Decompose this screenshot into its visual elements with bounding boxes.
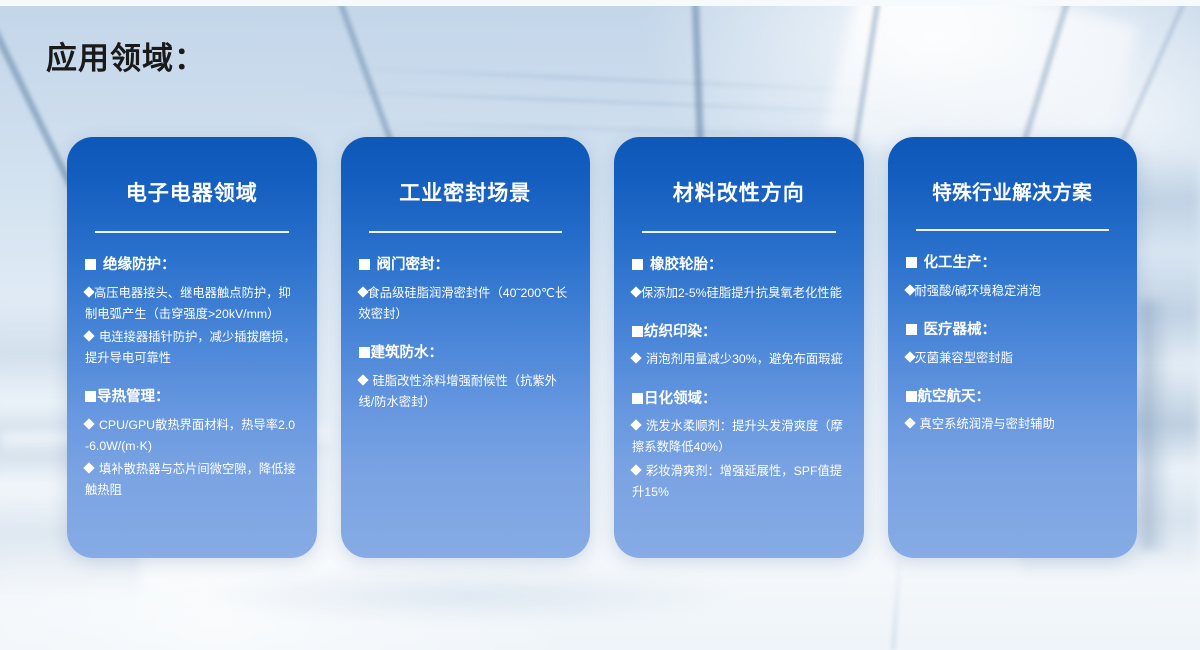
group-heading-label: 建筑防水： bbox=[371, 343, 444, 365]
diamond-bullet-icon bbox=[83, 462, 94, 473]
card-group: 日化领域：洗发水柔顺剂：提升头发滑爽度（摩擦系数降低40%）彩妆滑爽剂：增强延展… bbox=[632, 389, 846, 503]
card-body: 阀门密封：食品级硅脂润滑密封件（40˜200℃长效密封）建筑防水：硅脂改性涂料增… bbox=[355, 255, 577, 413]
bullet-text: 硅脂改性涂料增强耐候性（抗紫外线/防水密封） bbox=[359, 374, 557, 409]
bullet-item: 保添加2-5%硅脂提升抗臭氧老化性能 bbox=[632, 283, 846, 304]
card-title: 特殊行业解决方案 bbox=[902, 181, 1124, 205]
group-heading-label: 航空航天： bbox=[918, 387, 991, 409]
card-group: 阀门密封：食品级硅脂润滑密封件（40˜200℃长效密封） bbox=[359, 255, 573, 325]
card-group: 化工生产：耐强酸/碱环境稳定消泡 bbox=[906, 253, 1120, 302]
square-bullet-icon bbox=[359, 347, 370, 358]
group-heading: 医疗器械： bbox=[906, 320, 1120, 342]
top-edge-strip bbox=[0, 0, 1200, 6]
bullet-item: 食品级硅脂润滑密封件（40˜200℃长效密封） bbox=[359, 283, 573, 325]
square-bullet-icon bbox=[359, 259, 370, 270]
card-body: 绝缘防护：高压电器接头、继电器触点防护，抑制电弧产生（击穿强度>20kV/mm）… bbox=[81, 255, 303, 502]
group-heading-label: 日化领域： bbox=[644, 389, 717, 411]
card-title: 工业密封场景 bbox=[355, 181, 577, 207]
bullet-item: 真空系统润滑与密封辅助 bbox=[906, 414, 1120, 435]
card-divider bbox=[642, 231, 836, 233]
bullet-item: 填补散热器与芯片间微空隙，降低接触热阻 bbox=[85, 459, 299, 501]
diamond-bullet-icon bbox=[904, 284, 915, 295]
bullet-item: 高压电器接头、继电器触点防护，抑制电弧产生（击穿强度>20kV/mm） bbox=[85, 283, 299, 325]
square-bullet-icon bbox=[632, 259, 643, 270]
card-title: 电子电器领域 bbox=[81, 181, 303, 207]
square-bullet-icon bbox=[632, 393, 643, 404]
bullet-text: 彩妆滑爽剂：增强延展性，SPF值提升15% bbox=[632, 464, 842, 499]
bullet-text: 高压电器接头、继电器触点防护，抑制电弧产生（击穿强度>20kV/mm） bbox=[85, 286, 291, 321]
background-right-post bbox=[1142, 300, 1168, 550]
card-divider bbox=[95, 231, 289, 233]
card-body: 橡胶轮胎：保添加2-5%硅脂提升抗臭氧老化性能纺织印染：消泡剂用量减少30%，避… bbox=[628, 255, 850, 503]
card-group: 纺织印染：消泡剂用量减少30%，避免布面瑕疵 bbox=[632, 322, 846, 371]
bullet-item: CPU/GPU散热界面材料，热导率2.0-6.0W/(m·K) bbox=[85, 415, 299, 457]
square-bullet-icon bbox=[85, 391, 96, 402]
diamond-bullet-icon bbox=[83, 286, 94, 297]
card-group: 绝缘防护：高压电器接头、继电器触点防护，抑制电弧产生（击穿强度>20kV/mm）… bbox=[85, 255, 299, 369]
card-divider bbox=[916, 229, 1110, 231]
bullet-text: 消泡剂用量减少30%，避免布面瑕疵 bbox=[646, 352, 843, 366]
bullet-text: 电连接器插针防护，减少插拔磨损，提升导电可靠性 bbox=[85, 330, 296, 365]
square-bullet-icon bbox=[906, 391, 917, 402]
bullet-item: 耐强酸/碱环境稳定消泡 bbox=[906, 281, 1120, 302]
group-heading-label: 化工生产： bbox=[924, 253, 997, 275]
group-heading-label: 橡胶轮胎： bbox=[650, 255, 723, 277]
cards-row: 电子电器领域绝缘防护：高压电器接头、继电器触点防护，抑制电弧产生（击穿强度>20… bbox=[67, 137, 1137, 561]
square-bullet-icon bbox=[906, 324, 917, 335]
card-title: 材料改性方向 bbox=[628, 181, 850, 207]
bullet-text: 真空系统润滑与密封辅助 bbox=[920, 417, 1055, 431]
application-field-card[interactable]: 特殊行业解决方案化工生产：耐强酸/碱环境稳定消泡医疗器械：灭菌兼容型密封脂航空航… bbox=[888, 137, 1138, 558]
bullet-item: 灭菌兼容型密封脂 bbox=[906, 348, 1120, 369]
square-bullet-icon bbox=[85, 259, 96, 270]
group-heading-label: 绝缘防护： bbox=[103, 255, 176, 277]
group-heading-label: 医疗器械： bbox=[924, 320, 997, 342]
bullet-text: 食品级硅脂润滑密封件（40˜200℃长效密封） bbox=[359, 286, 568, 321]
group-heading: 导热管理： bbox=[85, 387, 299, 409]
diamond-bullet-icon bbox=[630, 353, 641, 364]
bullet-item: 彩妆滑爽剂：增强延展性，SPF值提升15% bbox=[632, 461, 846, 503]
bullet-item: 电连接器插针防护，减少插拔磨损，提升导电可靠性 bbox=[85, 327, 299, 369]
bullet-item: 消泡剂用量减少30%，避免布面瑕疵 bbox=[632, 349, 846, 370]
card-group: 建筑防水：硅脂改性涂料增强耐候性（抗紫外线/防水密封） bbox=[359, 343, 573, 413]
bullet-text: 填补散热器与芯片间微空隙，降低接触热阻 bbox=[85, 462, 296, 497]
group-heading: 阀门密封： bbox=[359, 255, 573, 277]
card-group: 航空航天：真空系统润滑与密封辅助 bbox=[906, 387, 1120, 436]
card-group: 橡胶轮胎：保添加2-5%硅脂提升抗臭氧老化性能 bbox=[632, 255, 846, 304]
group-heading: 航空航天： bbox=[906, 387, 1120, 409]
application-field-card[interactable]: 电子电器领域绝缘防护：高压电器接头、继电器触点防护，抑制电弧产生（击穿强度>20… bbox=[67, 137, 317, 558]
card-divider bbox=[369, 231, 563, 233]
background-floor-sheen bbox=[120, 560, 820, 630]
diamond-bullet-icon bbox=[630, 464, 641, 475]
diamond-bullet-icon bbox=[630, 286, 641, 297]
bullet-text: 耐强酸/碱环境稳定消泡 bbox=[915, 284, 1041, 298]
bullet-text: 洗发水柔顺剂：提升头发滑爽度（摩擦系数降低40%） bbox=[632, 419, 843, 454]
diamond-bullet-icon bbox=[630, 420, 641, 431]
square-bullet-icon bbox=[632, 326, 643, 337]
bullet-item: 硅脂改性涂料增强耐候性（抗紫外线/防水密封） bbox=[359, 371, 573, 413]
page-title: 应用领域： bbox=[46, 40, 206, 77]
card-group: 导热管理：CPU/GPU散热界面材料，热导率2.0-6.0W/(m·K)填补散热… bbox=[85, 387, 299, 501]
group-heading: 橡胶轮胎： bbox=[632, 255, 846, 277]
diamond-bullet-icon bbox=[83, 418, 94, 429]
diamond-bullet-icon bbox=[357, 286, 368, 297]
group-heading: 日化领域： bbox=[632, 389, 846, 411]
group-heading: 建筑防水： bbox=[359, 343, 573, 365]
group-heading-label: 纺织印染： bbox=[644, 322, 717, 344]
bullet-text: 灭菌兼容型密封脂 bbox=[915, 351, 1013, 365]
square-bullet-icon bbox=[906, 257, 917, 268]
application-fields-banner: 应用领域： 电子电器领域绝缘防护：高压电器接头、继电器触点防护，抑制电弧产生（击… bbox=[0, 0, 1200, 650]
diamond-bullet-icon bbox=[83, 330, 94, 341]
diamond-bullet-icon bbox=[904, 351, 915, 362]
group-heading: 绝缘防护： bbox=[85, 255, 299, 277]
group-heading: 化工生产： bbox=[906, 253, 1120, 275]
group-heading: 纺织印染： bbox=[632, 322, 846, 344]
diamond-bullet-icon bbox=[357, 374, 368, 385]
bullet-text: CPU/GPU散热界面材料，热导率2.0-6.0W/(m·K) bbox=[85, 418, 295, 453]
bullet-item: 洗发水柔顺剂：提升头发滑爽度（摩擦系数降低40%） bbox=[632, 416, 846, 458]
application-field-card[interactable]: 材料改性方向橡胶轮胎：保添加2-5%硅脂提升抗臭氧老化性能纺织印染：消泡剂用量减… bbox=[614, 137, 864, 558]
bullet-text: 保添加2-5%硅脂提升抗臭氧老化性能 bbox=[641, 286, 842, 300]
card-group: 医疗器械：灭菌兼容型密封脂 bbox=[906, 320, 1120, 369]
group-heading-label: 阀门密封： bbox=[377, 255, 450, 277]
card-body: 化工生产：耐强酸/碱环境稳定消泡医疗器械：灭菌兼容型密封脂航空航天：真空系统润滑… bbox=[902, 253, 1124, 436]
group-heading-label: 导热管理： bbox=[97, 387, 170, 409]
diamond-bullet-icon bbox=[904, 418, 915, 429]
application-field-card[interactable]: 工业密封场景阀门密封：食品级硅脂润滑密封件（40˜200℃长效密封）建筑防水：硅… bbox=[341, 137, 591, 558]
